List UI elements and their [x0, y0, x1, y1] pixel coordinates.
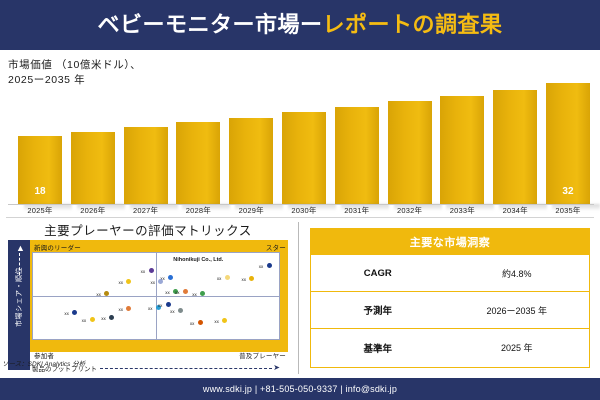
- bar-slot: [229, 75, 273, 205]
- matrix-point-label: xx: [170, 309, 175, 314]
- chart-bar: [282, 112, 326, 205]
- chart-bar: [335, 107, 379, 205]
- matrix-point-label: xx: [214, 319, 219, 324]
- table-row: 予測年2026ー2035 年: [311, 292, 589, 329]
- matrix-point-label: xx: [118, 280, 123, 285]
- key-insights-table: 主要な市場洞察 CAGR約4.8%予測年2026ー2035 年基準年2025 年: [310, 228, 590, 368]
- x-axis-dashes: [100, 368, 272, 369]
- chart-bar: [440, 96, 484, 205]
- x-axis-tick-label: 2034年: [493, 205, 537, 216]
- matrix-data-point: [178, 308, 183, 313]
- arrow-right-icon: ➤: [273, 364, 280, 372]
- bar-slot: [71, 75, 115, 205]
- matrix-point-label: xx: [259, 264, 264, 269]
- quadrant-horizontal-divider: [33, 296, 279, 297]
- chart-bars: 1832: [18, 75, 590, 205]
- matrix-data-point: [90, 317, 95, 322]
- header-bar: ベビーモニター市場ーレポートの調査果: [0, 0, 600, 50]
- chart-bar: 18: [18, 136, 62, 205]
- highlight-company-label: Nihonikuji Co., Ltd.: [173, 257, 223, 263]
- matrix-point-label: xx: [118, 307, 123, 312]
- insight-value: 2026ー2035 年: [444, 304, 589, 317]
- insight-value: 約4.8%: [444, 267, 589, 280]
- matrix-data-point: [109, 315, 114, 320]
- bar-slot: [388, 75, 432, 205]
- x-axis-tick-label: 2030年: [282, 205, 326, 216]
- chart-bar: 32: [546, 83, 590, 205]
- market-value-bar-chart: 市場価値 （10億米ドル）、 2025ー2035 年 1832: [0, 50, 600, 205]
- bar-slot: [440, 75, 484, 205]
- bar-slot: [124, 75, 168, 205]
- matrix-point-label: xx: [165, 290, 170, 295]
- source-note: ソース：SDKI Analytics 分析: [2, 358, 85, 368]
- matrix-point-label: xx: [158, 303, 163, 308]
- x-axis-tick-label: 2033年: [440, 205, 484, 216]
- quadrant-label-star: スター: [266, 242, 286, 252]
- insight-key: CAGR: [311, 268, 444, 279]
- table-row: CAGR約4.8%: [311, 255, 589, 292]
- matrix-data-point: [267, 263, 272, 268]
- footer-contact-text: www.sdki.jp | +81-505-050-9337 | info@sd…: [203, 384, 397, 394]
- matrix-point-label: xx: [150, 280, 155, 285]
- x-axis-tick-label: 2028年: [176, 205, 220, 216]
- chart-bar: [71, 132, 115, 205]
- bar-slot: 32: [546, 75, 590, 205]
- matrix-y-axis-label: 市場シェア・順位: [14, 242, 24, 352]
- quadrant-label-pervasive-player: 普及プレーヤー: [239, 350, 286, 360]
- x-axis-tick-label: 2025年: [18, 205, 62, 216]
- matrix-data-point: [249, 276, 254, 281]
- matrix-data-point: [126, 279, 131, 284]
- matrix-y-axis: ▲ 市場シェア・順位: [8, 240, 30, 370]
- insight-key: 基準年: [311, 341, 444, 355]
- matrix-point-label: xx: [96, 292, 101, 297]
- bar-slot: [335, 75, 379, 205]
- quadrant-label-emerging-leader: 新興のリーダー: [34, 242, 81, 252]
- matrix-data-point: [166, 302, 171, 307]
- chart-bar: [176, 122, 220, 205]
- chart-x-axis-labels: 2025年2026年2027年2028年2029年2030年2031年2032年…: [18, 205, 590, 216]
- matrix-point-label: xx: [101, 316, 106, 321]
- matrix-plot-area: Nihonikuji Co., Ltd. xxxxxxxxxxxxxxxxxxx…: [32, 252, 280, 340]
- bar-value-label: 32: [546, 186, 590, 197]
- bar-slot: [493, 75, 537, 205]
- matrix-point-label: xx: [64, 311, 69, 316]
- matrix-data-point: [72, 310, 77, 315]
- matrix-point-label: xx: [192, 292, 197, 297]
- footer-bar: www.sdki.jp | +81-505-050-9337 | info@sd…: [0, 378, 600, 400]
- x-axis-tick-label: 2031年: [335, 205, 379, 216]
- x-axis-tick-label: 2027年: [124, 205, 168, 216]
- matrix-point-label: xx: [175, 290, 180, 295]
- matrix-point-label: xx: [190, 321, 195, 326]
- evaluation-matrix: 主要プレーヤーの評価マトリックス ▲ 市場シェア・順位 新興のリーダー スター …: [0, 218, 296, 378]
- matrix-data-point: [225, 275, 230, 280]
- bar-slot: [176, 75, 220, 205]
- x-axis-tick-label: 2026年: [71, 205, 115, 216]
- bar-value-label: 18: [18, 186, 62, 197]
- matrix-point-label: xx: [82, 318, 87, 323]
- page-title-main: ベビーモニター市場ー: [97, 12, 322, 37]
- table-row: 基準年2025 年: [311, 329, 589, 366]
- matrix-data-point: [198, 320, 203, 325]
- chart-bar: [388, 101, 432, 205]
- insights-header: 主要な市場洞察: [311, 229, 589, 255]
- bar-slot: 18: [18, 75, 62, 205]
- infographic-root: ベビーモニター市場ーレポートの調査果 市場価値 （10億米ドル）、 2025ー2…: [0, 0, 600, 400]
- matrix-title: 主要プレーヤーの評価マトリックス: [0, 220, 296, 239]
- insights-rows: CAGR約4.8%予測年2026ー2035 年基準年2025 年: [311, 255, 589, 366]
- matrix-data-point: [158, 279, 163, 284]
- x-axis-tick-label: 2029年: [229, 205, 273, 216]
- bar-slot: [282, 75, 326, 205]
- x-axis-tick-label: 2035年: [546, 205, 590, 216]
- matrix-data-point: [222, 318, 227, 323]
- matrix-data-point: [183, 289, 188, 294]
- insight-key: 予測年: [311, 303, 444, 317]
- chart-bar: [493, 90, 537, 205]
- chart-bar: [229, 118, 273, 205]
- page-title-accent: レポートの調査果: [323, 12, 503, 37]
- panel-divider: [298, 222, 299, 374]
- matrix-data-point: [149, 268, 154, 273]
- matrix-data-point: [126, 306, 131, 311]
- page-title: ベビーモニター市場ーレポートの調査果: [97, 14, 502, 36]
- matrix-point-label: xx: [141, 269, 146, 274]
- matrix-point-label: xx: [148, 306, 153, 311]
- insight-value: 2025 年: [444, 341, 589, 354]
- matrix-data-point: [168, 275, 173, 280]
- chart-bar: [124, 127, 168, 205]
- x-axis-tick-label: 2032年: [388, 205, 432, 216]
- matrix-point-label: xx: [217, 276, 222, 281]
- matrix-point-label: xx: [241, 277, 246, 282]
